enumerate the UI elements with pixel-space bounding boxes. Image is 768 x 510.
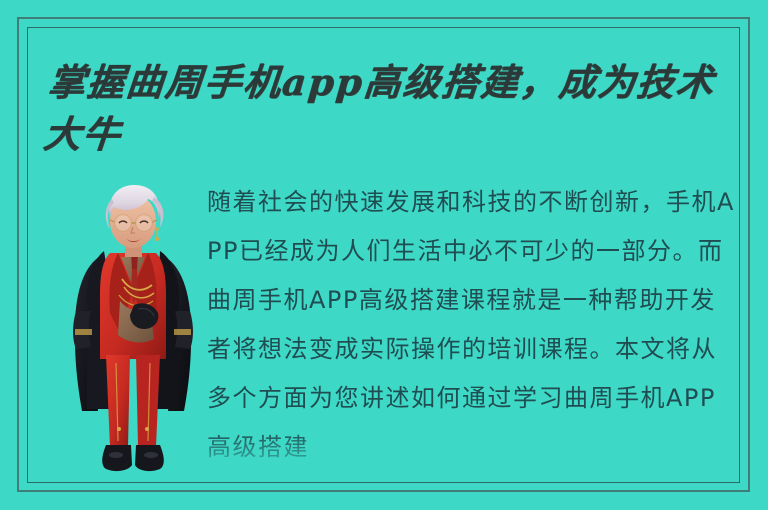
character-suit <box>100 253 166 359</box>
banner-canvas: 掌握曲周手机app高级搭建，成为技术大牛 随着社会的快速发展和科技的不断创新，手… <box>0 0 768 510</box>
character-trousers <box>106 355 160 447</box>
character-shoes <box>102 445 164 471</box>
page-title: 掌握曲周手机app高级搭建，成为技术大牛 <box>41 56 750 160</box>
character-illustration <box>58 183 208 483</box>
article-body-text: 随着社会的快速发展和科技的不断创新，手机APP已经成为人们生活中必不可少的一部分… <box>207 178 737 472</box>
character-illustration-svg <box>58 183 208 483</box>
character-head <box>106 185 164 257</box>
